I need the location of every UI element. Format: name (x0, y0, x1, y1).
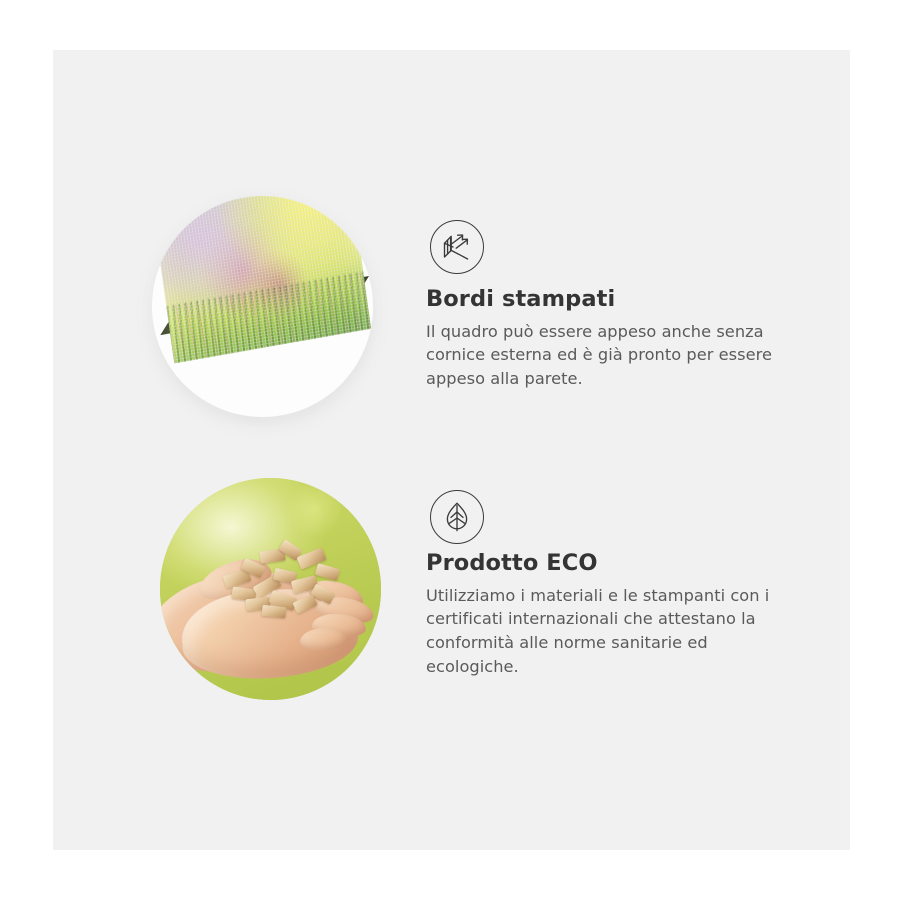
leaf-icon (430, 490, 484, 544)
wood-chips-pile (216, 540, 348, 618)
canvas-grass-texture (166, 271, 371, 363)
feature-title: Prodotto ECO (426, 550, 792, 577)
feature-description: Il quadro può essere appeso anche senza … (426, 320, 792, 391)
printed-edges-icon (430, 220, 484, 274)
hands-wood-chips-photo (160, 478, 381, 700)
feature-description: Utilizziamo i materiali e le stampanti c… (426, 584, 792, 679)
product-feature-page: Bordi stampati Il quadro può essere appe… (0, 0, 900, 900)
feature-text-prodotto-eco: Prodotto ECO Utilizziamo i materiali e l… (426, 550, 792, 678)
canvas-print-object (174, 196, 373, 392)
content-panel (53, 50, 850, 850)
feature-title: Bordi stampati (426, 286, 792, 313)
feature-text-bordi-stampati: Bordi stampati Il quadro può essere appe… (426, 286, 792, 391)
canvas-printed-face (152, 196, 371, 363)
canvas-print-edge-photo (152, 196, 373, 417)
